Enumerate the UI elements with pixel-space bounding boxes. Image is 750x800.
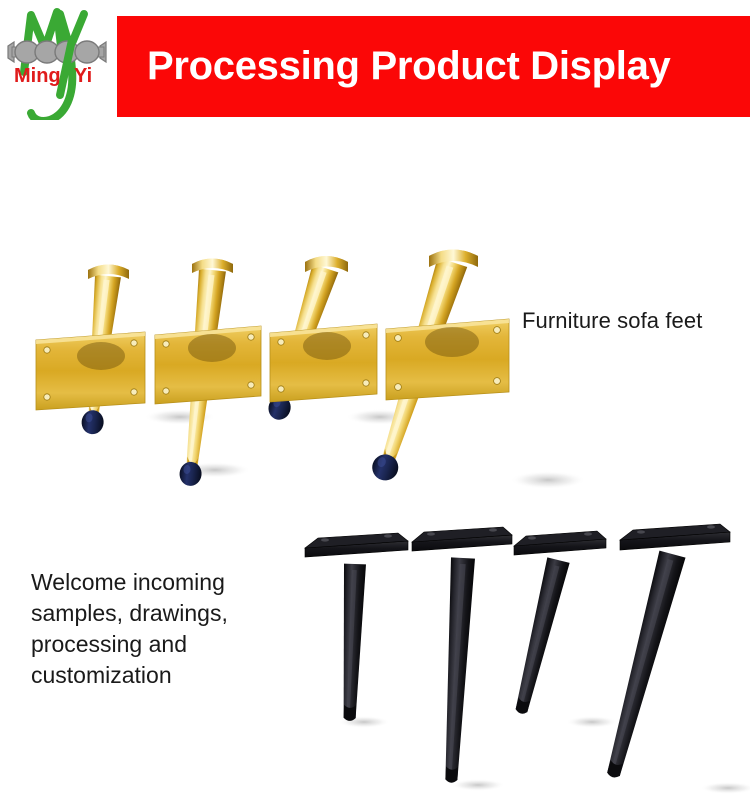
caption-line-2: samples, drawings, [31, 598, 301, 629]
caption-line-1: Welcome incoming [31, 567, 301, 598]
header-banner: Processing Product Display [117, 16, 750, 117]
logo-brand-part1: Ming [14, 65, 61, 87]
ming-yi-spring-logo-icon: Ming Yi [0, 0, 117, 130]
logo-brand-part2: Yi [74, 65, 92, 87]
caption-welcome-block: Welcome incoming samples, drawings, proc… [31, 567, 301, 691]
product-photo-area [0, 120, 750, 800]
caption-line-3: processing and [31, 629, 301, 660]
caption-line-4: customization [31, 660, 301, 691]
sofa-legs-illustration [0, 120, 750, 800]
product-display-page: Ming Yi Processing Product Display [0, 0, 750, 800]
page-title: Processing Product Display [147, 46, 670, 86]
page-header: Ming Yi Processing Product Display [0, 0, 750, 120]
caption-furniture-sofa-feet: Furniture sofa feet [522, 308, 702, 334]
brand-logo: Ming Yi [0, 0, 117, 130]
